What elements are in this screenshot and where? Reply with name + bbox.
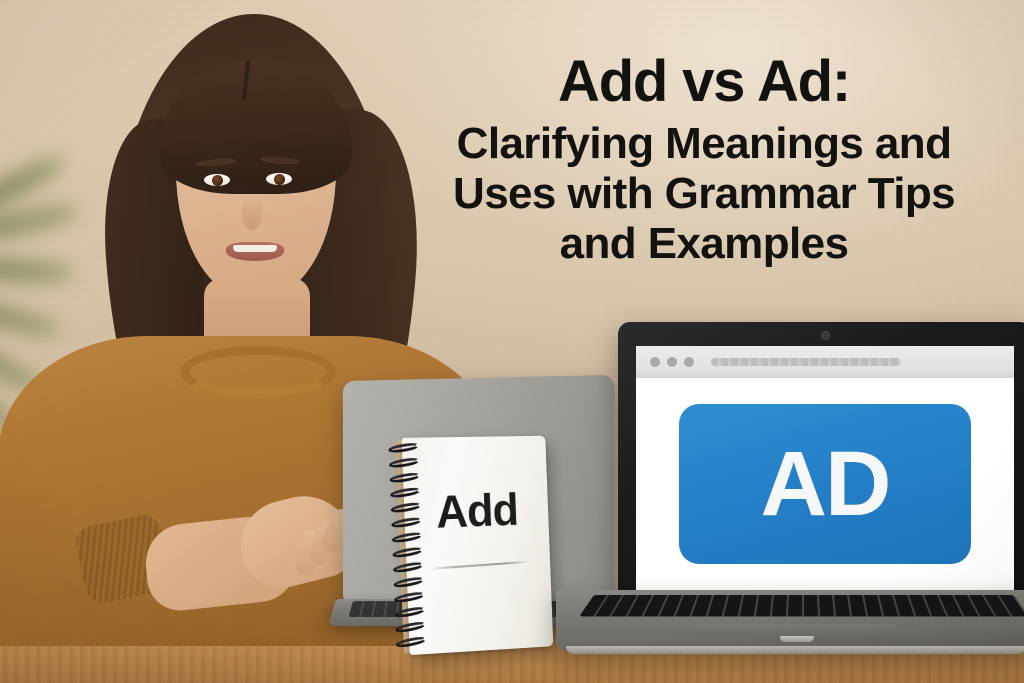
mouth xyxy=(226,242,284,261)
teeth xyxy=(233,245,277,252)
window-minimize-dot-icon[interactable] xyxy=(667,357,677,367)
lid-notch xyxy=(780,636,814,642)
eye-right xyxy=(266,173,292,185)
window-maximize-dot-icon[interactable] xyxy=(684,357,694,367)
sweater-collar xyxy=(180,346,336,398)
notepad-word: Add xyxy=(404,486,549,536)
address-bar[interactable] xyxy=(711,358,901,366)
right-laptop-base xyxy=(556,590,1024,652)
text-overlay: Add vs Ad: Clarifying Meanings and Uses … xyxy=(384,52,1024,270)
webcam-icon xyxy=(821,331,830,340)
iris-left xyxy=(212,175,223,186)
right-laptop-lid: AD xyxy=(618,322,1024,602)
window-close-dot-icon[interactable] xyxy=(650,357,660,367)
page-title: Add vs Ad: xyxy=(384,52,1024,111)
page-subtitle: Clarifying Meanings and Uses with Gramma… xyxy=(384,119,1024,269)
laptop-screen[interactable]: AD xyxy=(636,346,1014,590)
right-laptop-keyboard[interactable] xyxy=(579,595,1024,616)
browser-chrome-bar xyxy=(636,346,1014,378)
nose xyxy=(242,196,262,230)
ad-stage: AD xyxy=(636,378,1014,590)
iris-right xyxy=(274,174,285,185)
eye-left xyxy=(204,174,230,186)
laptop-front-edge xyxy=(566,646,1024,654)
ad-banner[interactable]: AD xyxy=(679,404,971,564)
subtitle-line-2: Uses with Grammar Tips xyxy=(384,169,1024,219)
subtitle-line-1: Clarifying Meanings and xyxy=(384,119,1024,169)
subtitle-line-3: and Examples xyxy=(384,219,1024,269)
ad-banner-label: AD xyxy=(761,438,890,530)
scene-root: Add xyxy=(0,0,1024,683)
right-laptop[interactable]: AD xyxy=(556,322,1024,674)
notepad[interactable]: Add xyxy=(388,436,554,656)
